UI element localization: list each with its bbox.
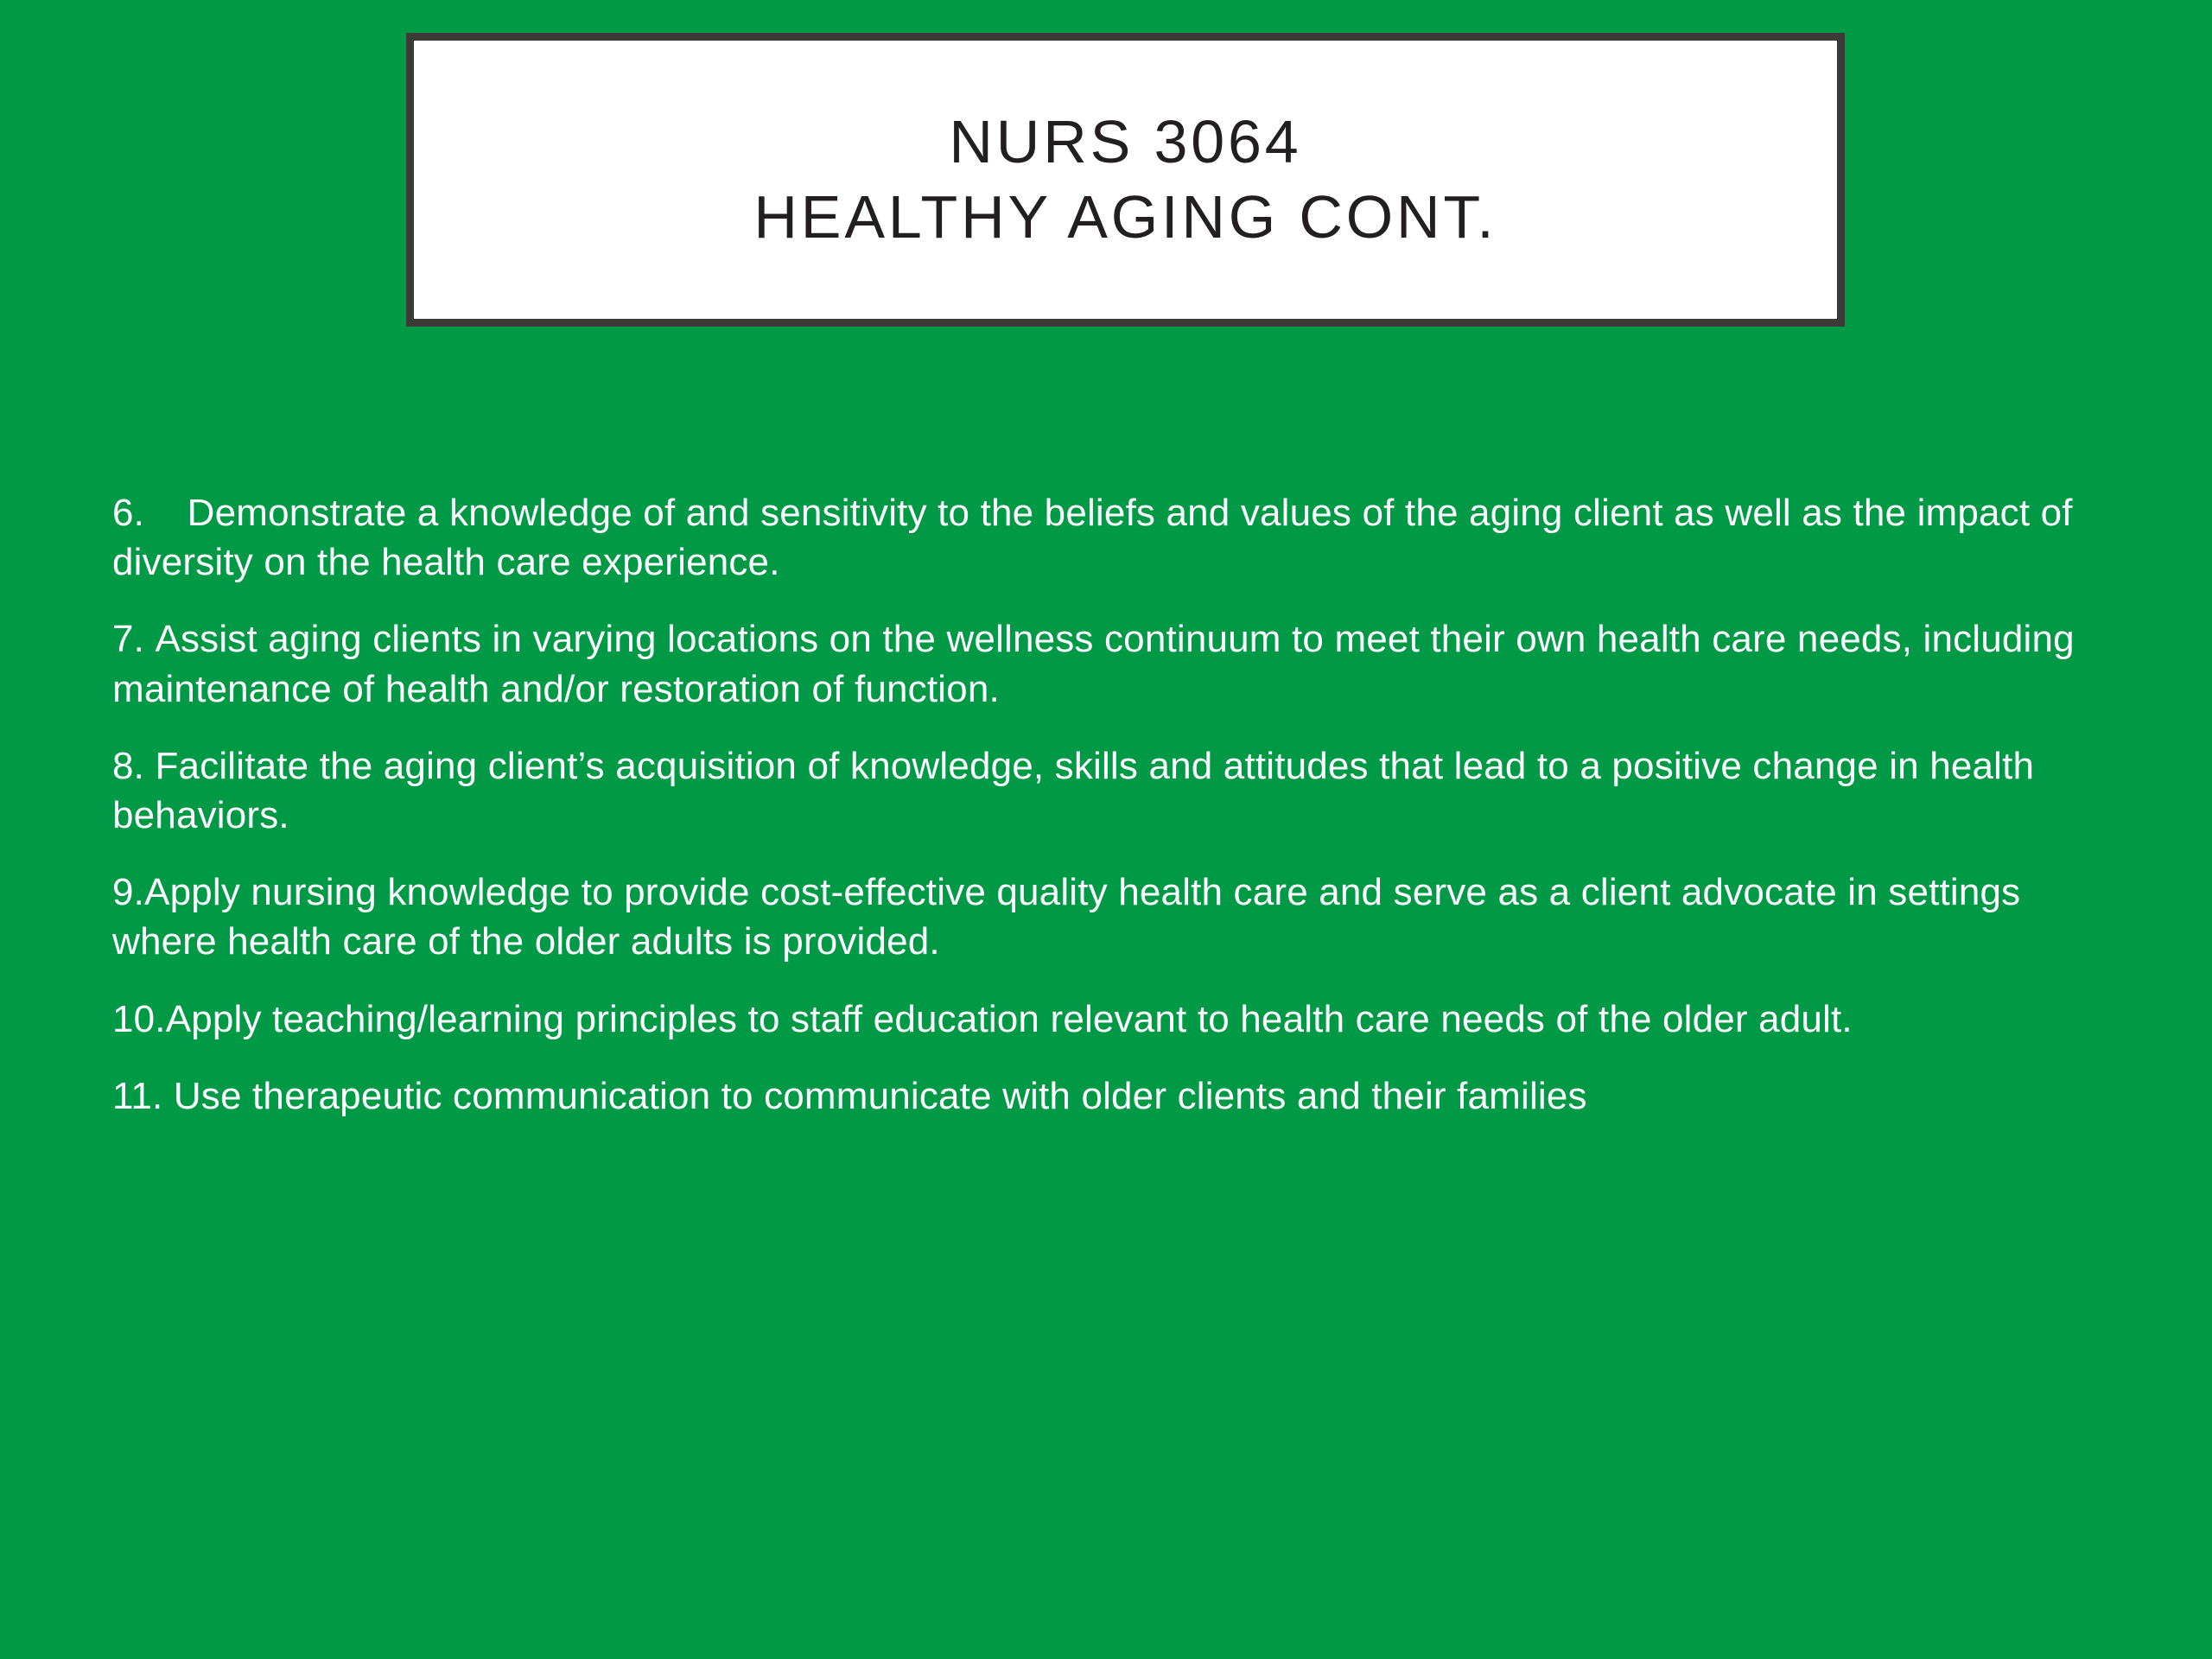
objective-spacer-11 bbox=[162, 1075, 173, 1117]
objective-text-10: Apply teaching/learning principles to st… bbox=[166, 998, 1853, 1040]
objective-spacer-8 bbox=[144, 745, 155, 787]
objective-text-6: Demonstrate a knowledge of and sensitivi… bbox=[112, 492, 2073, 583]
title-box: NURS 3064 HEALTHY AGING CONT. bbox=[406, 33, 1845, 327]
objectives-list: 6. Demonstrate a knowledge of and sensit… bbox=[112, 488, 2117, 1121]
title-line-course-name: HEALTHY AGING CONT. bbox=[753, 181, 1497, 253]
objective-item-8: 8. Facilitate the aging client’s acquisi… bbox=[112, 741, 2117, 840]
objective-item-9: 9.Apply nursing knowledge to provide cos… bbox=[112, 868, 2117, 966]
objective-text-7: Assist aging clients in varying location… bbox=[112, 618, 2075, 709]
objective-number-8: 8. bbox=[112, 745, 144, 787]
objective-text-8: Facilitate the aging client’s acquisitio… bbox=[112, 745, 2034, 836]
objective-number-6: 6. bbox=[112, 492, 144, 534]
objective-item-7: 7. Assist aging clients in varying locat… bbox=[112, 614, 2117, 713]
objective-spacer-7 bbox=[144, 618, 155, 660]
objective-text-11: Use therapeutic communication to communi… bbox=[174, 1075, 1587, 1117]
objective-item-11: 11. Use therapeutic communication to com… bbox=[112, 1071, 2117, 1121]
objective-number-11: 11. bbox=[112, 1075, 162, 1117]
slide-canvas: NURS 3064 HEALTHY AGING CONT. 6. Demonst… bbox=[0, 0, 2212, 1659]
objective-item-10: 10.Apply teaching/learning principles to… bbox=[112, 995, 2117, 1044]
objective-text-9: Apply nursing knowledge to provide cost-… bbox=[112, 871, 2020, 963]
objective-spacer-6 bbox=[144, 492, 188, 534]
title-line-course-code: NURS 3064 bbox=[949, 106, 1301, 178]
objective-number-10: 10. bbox=[112, 998, 166, 1040]
objective-item-6: 6. Demonstrate a knowledge of and sensit… bbox=[112, 488, 2117, 587]
objective-number-9: 9. bbox=[112, 871, 144, 913]
objective-number-7: 7. bbox=[112, 618, 144, 660]
